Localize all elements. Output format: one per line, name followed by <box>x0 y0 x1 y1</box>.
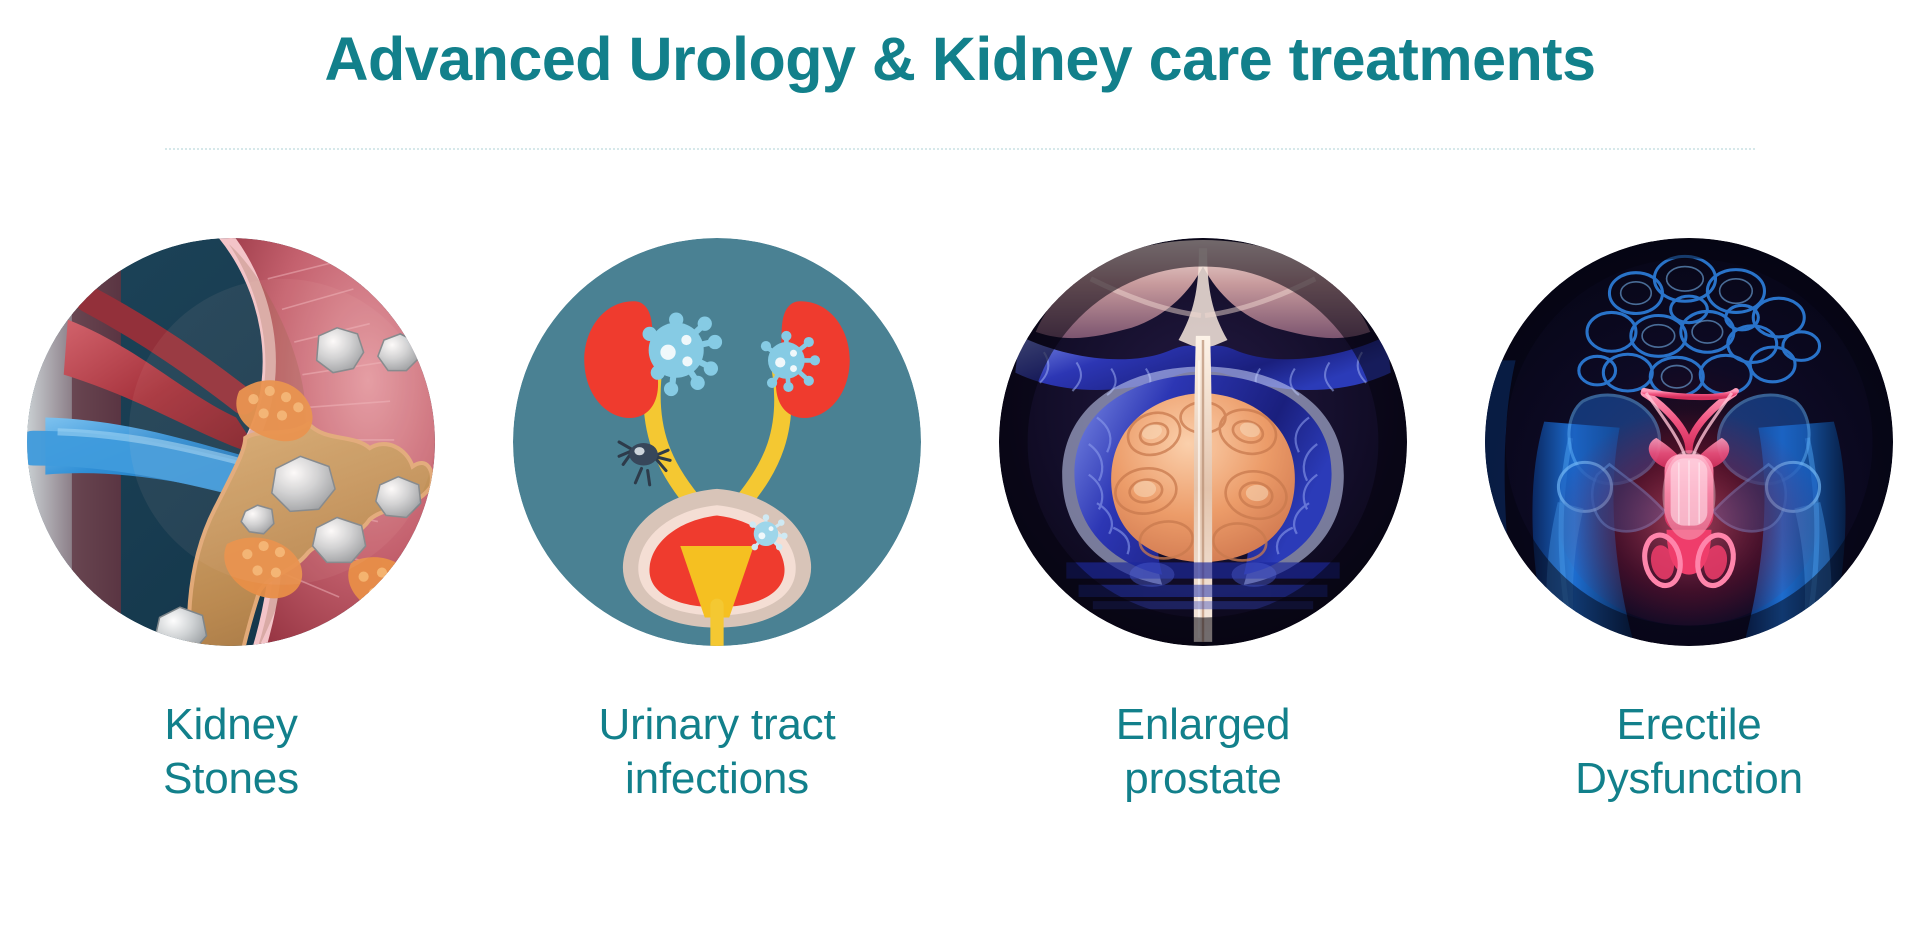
kidney-stones-illustration <box>27 238 435 646</box>
treatment-card-enlarged-prostate[interactable]: Enlarged prostate <box>1003 238 1403 805</box>
treatment-card-label: Erectile Dysfunction <box>1575 698 1803 805</box>
header: Advanced Urology & Kidney care treatment… <box>0 24 1920 96</box>
treatment-card-label: Enlarged prostate <box>1116 698 1291 805</box>
treatment-card-erectile-dysfunction[interactable]: Erectile Dysfunction <box>1489 238 1889 805</box>
treatment-card-label: Kidney Stones <box>163 698 299 805</box>
treatment-card-list: Kidney Stones <box>0 238 1920 805</box>
treatment-card-label: Urinary tract infections <box>599 698 836 805</box>
enlarged-prostate-illustration <box>999 238 1407 646</box>
page-title: Advanced Urology & Kidney care treatment… <box>0 24 1920 96</box>
treatment-card-urinary-tract-infections[interactable]: Urinary tract infections <box>517 238 917 805</box>
dotted-divider <box>165 148 1755 150</box>
urology-services-page: Advanced Urology & Kidney care treatment… <box>0 0 1920 925</box>
erectile-dysfunction-illustration <box>1485 238 1893 646</box>
treatment-card-kidney-stones[interactable]: Kidney Stones <box>31 238 431 805</box>
urinary-tract-infection-illustration <box>513 238 921 646</box>
